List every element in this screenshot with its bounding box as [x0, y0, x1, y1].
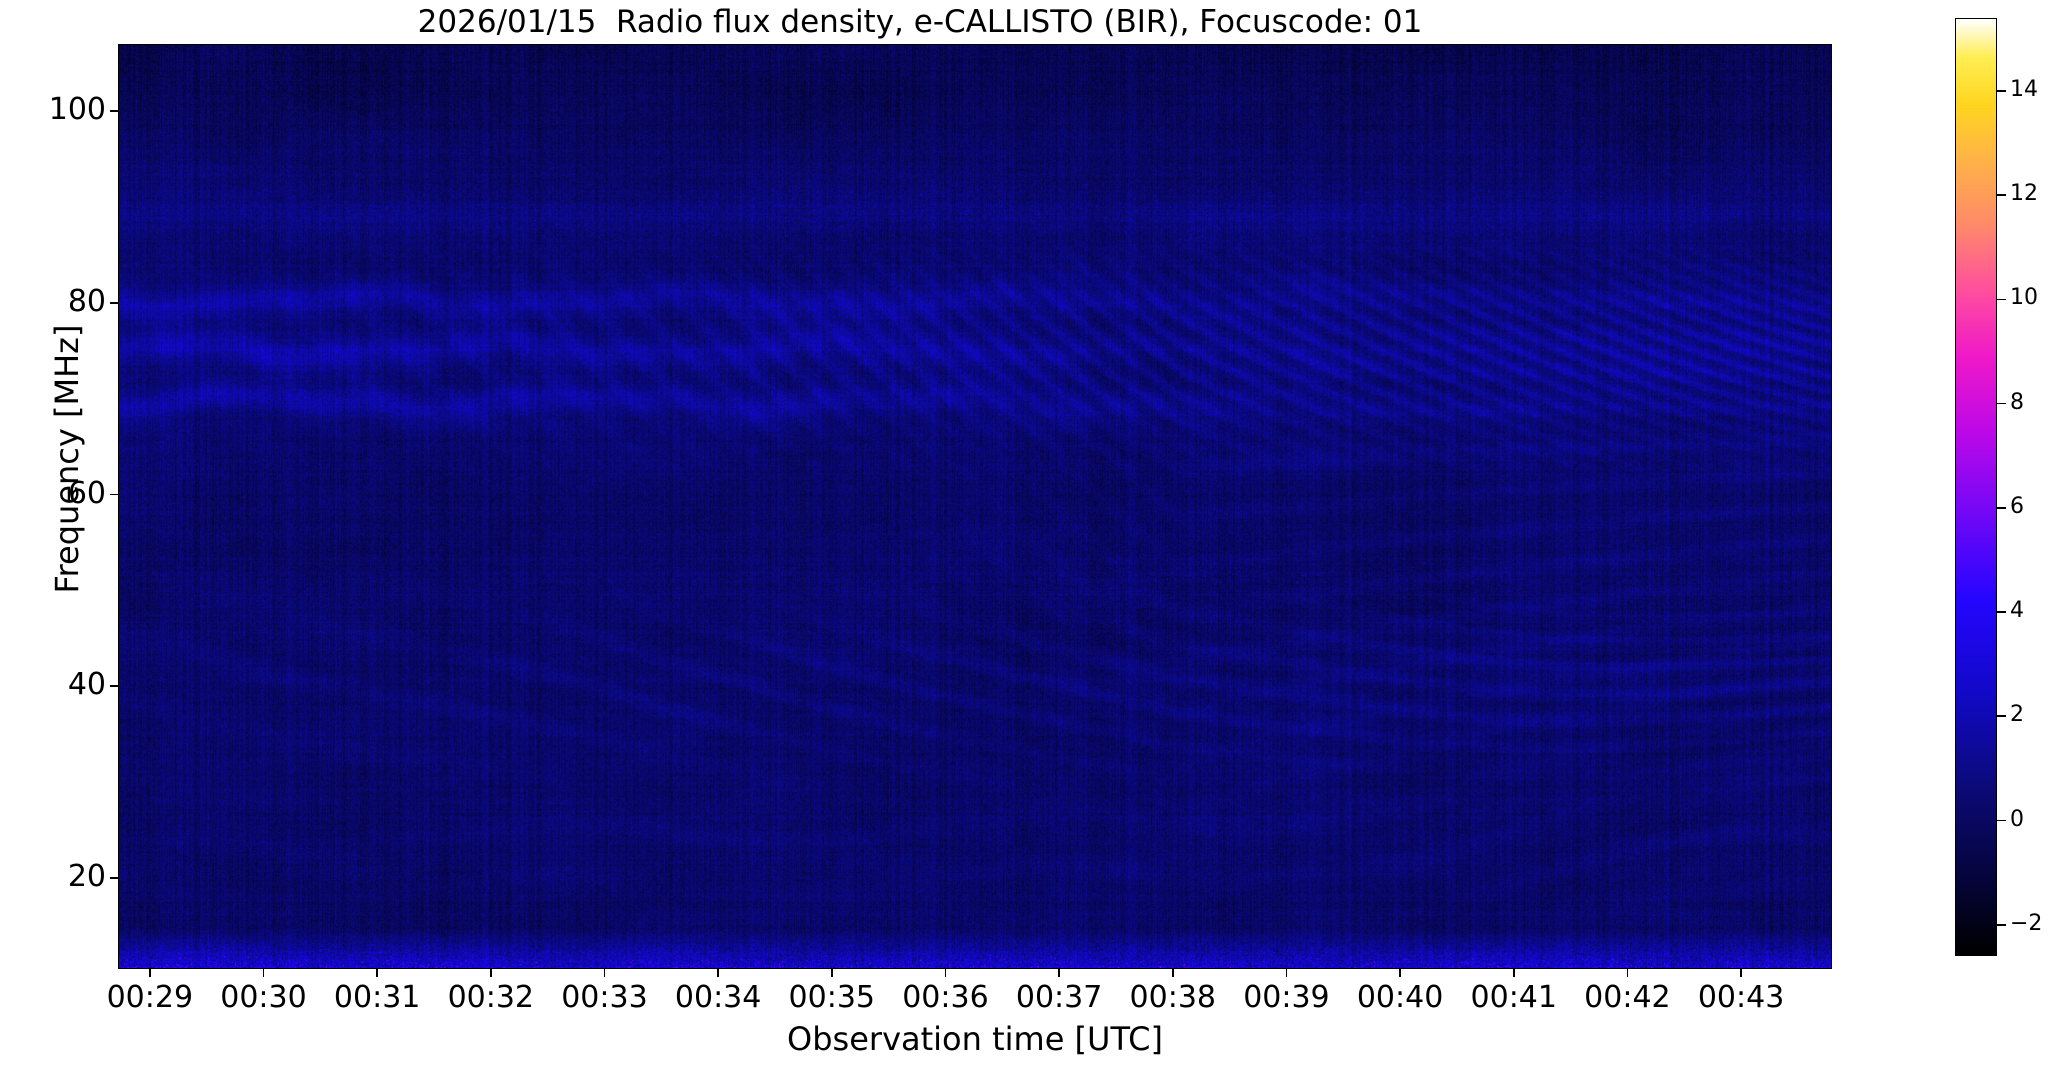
colorbar-tick-label: 4 — [2010, 600, 2024, 622]
colorbar-tick-mark — [1997, 924, 2006, 926]
x-axis-label: Observation time [UTC] — [118, 1020, 1832, 1058]
colorbar-gradient — [1956, 19, 1996, 955]
x-tick-mark — [831, 969, 833, 977]
y-tick-label: 20 — [0, 862, 106, 892]
colorbar-tick-label: 14 — [2010, 79, 2038, 101]
y-tick-mark — [110, 302, 118, 304]
x-tick-mark — [1740, 969, 1742, 977]
x-tick-mark — [1513, 969, 1515, 977]
x-tick-mark — [1172, 969, 1174, 977]
x-tick-label: 00:43 — [1651, 980, 1831, 1015]
colorbar-tick-label: 2 — [2010, 704, 2024, 726]
colorbar-tick-label: 10 — [2010, 287, 2038, 309]
y-tick-label: 40 — [0, 670, 106, 700]
colorbar-tick-mark — [1997, 715, 2006, 717]
x-tick-mark — [490, 969, 492, 977]
colorbar-tick-mark — [1997, 611, 2006, 613]
x-tick-mark — [1286, 969, 1288, 977]
x-tick-mark — [1399, 969, 1401, 977]
colorbar-tick-mark — [1997, 299, 2006, 301]
y-tick-mark — [110, 877, 118, 879]
figure-canvas: 2026/01/15 Radio flux density, e-CALLIST… — [0, 0, 2066, 1067]
y-tick-label: 80 — [0, 287, 106, 317]
x-tick-mark — [717, 969, 719, 977]
spectrogram-plot-area — [118, 44, 1832, 969]
colorbar-tick-mark — [1997, 820, 2006, 822]
colorbar-tick-label: 0 — [2010, 809, 2024, 831]
x-tick-mark — [263, 969, 265, 977]
colorbar-tick-label: 6 — [2010, 496, 2024, 518]
y-tick-label: 60 — [0, 479, 106, 509]
colorbar-tick-mark — [1997, 507, 2006, 509]
spectrogram-image — [119, 45, 1831, 968]
colorbar-tick-mark — [1997, 90, 2006, 92]
colorbar-tick-mark — [1997, 194, 2006, 196]
y-axis-label: Frequency [MHz] — [48, 0, 86, 929]
colorbar — [1955, 18, 1997, 956]
colorbar-tick-label: 8 — [2010, 392, 2024, 414]
y-tick-mark — [110, 494, 118, 496]
y-tick-mark — [110, 110, 118, 112]
y-tick-mark — [110, 685, 118, 687]
x-tick-mark — [1058, 969, 1060, 977]
colorbar-tick-label: −2 — [2010, 913, 2042, 935]
page-title: 2026/01/15 Radio flux density, e-CALLIST… — [0, 4, 1840, 40]
x-tick-mark — [376, 969, 378, 977]
x-tick-mark — [149, 969, 151, 977]
colorbar-tick-label: 12 — [2010, 183, 2038, 205]
x-tick-mark — [945, 969, 947, 977]
colorbar-tick-mark — [1997, 403, 2006, 405]
x-tick-mark — [1627, 969, 1629, 977]
x-tick-mark — [604, 969, 606, 977]
y-tick-label: 100 — [0, 95, 106, 125]
